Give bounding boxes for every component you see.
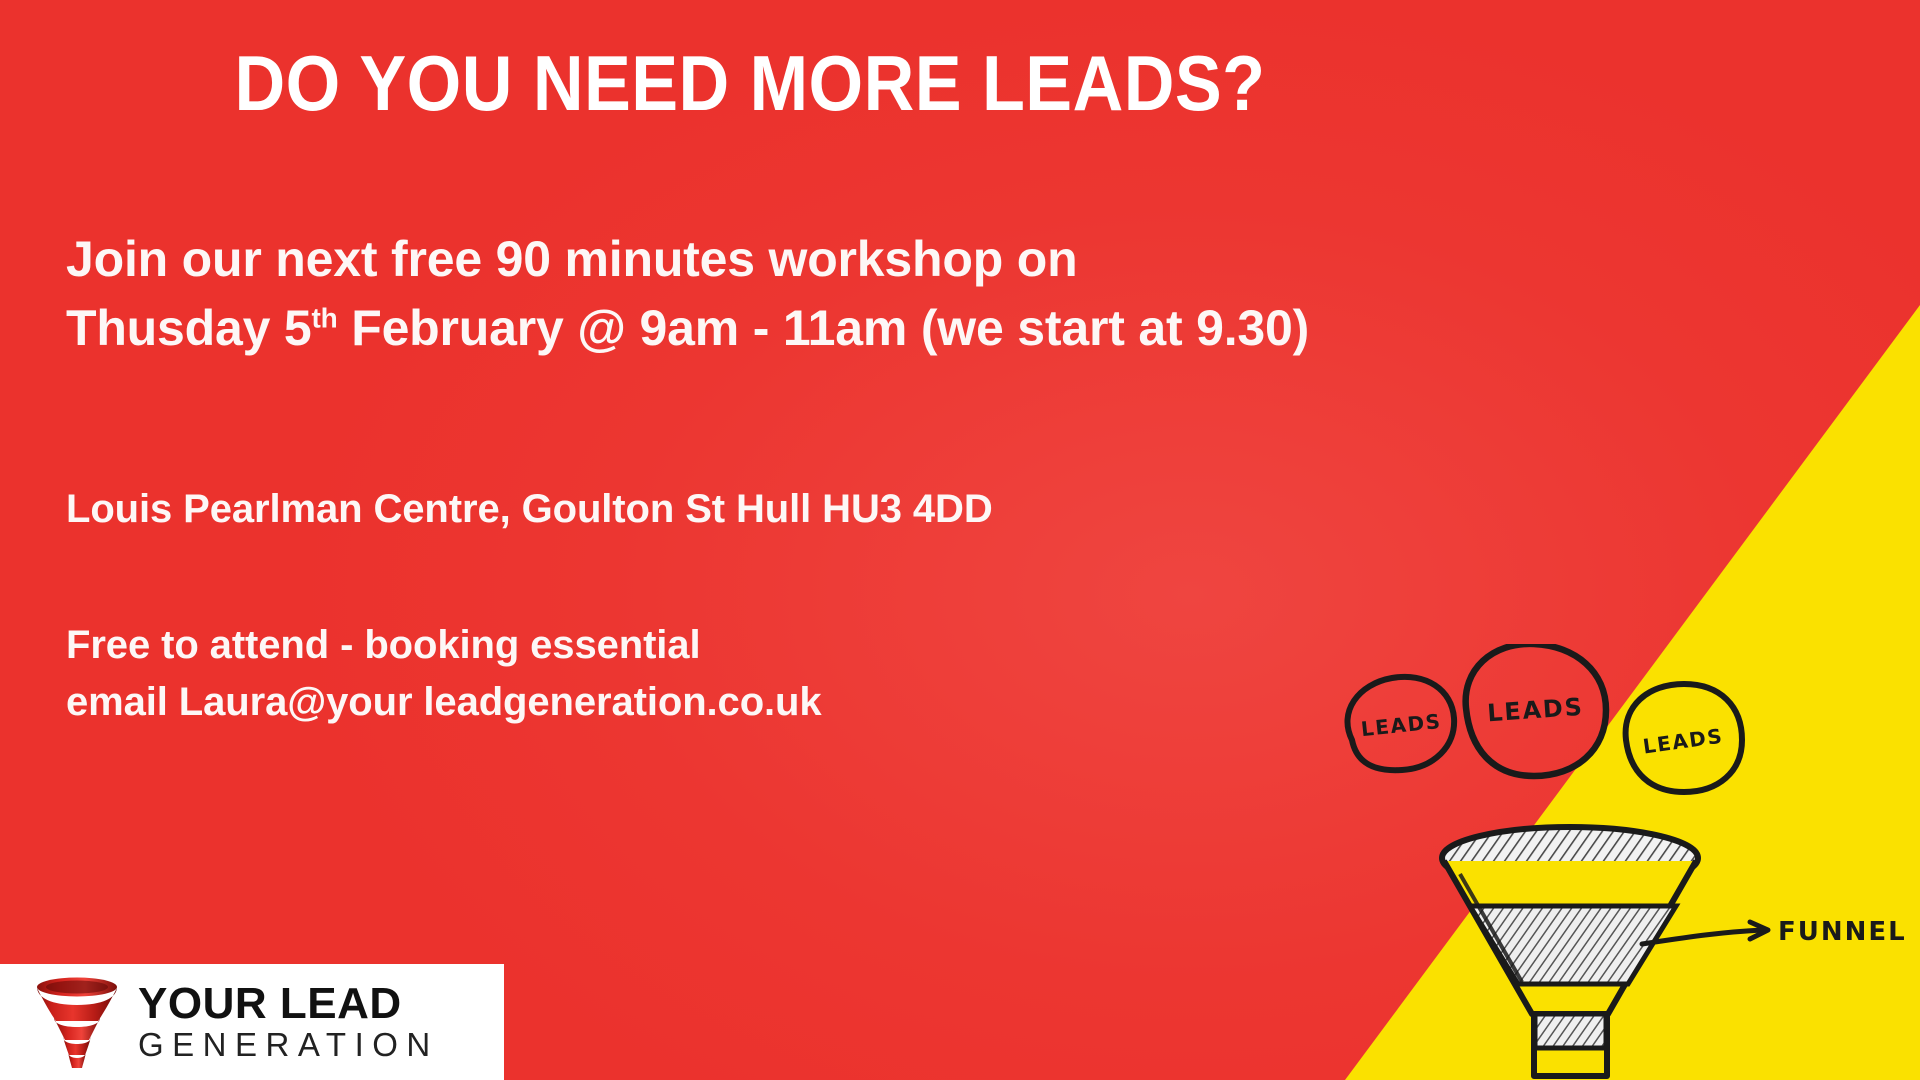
intro-line-2: Thusday 5th February @ 9am - 11am (we st…	[66, 294, 1426, 363]
leads-bubble-right-label: LEADS	[1641, 724, 1724, 759]
intro-line-2-time: February @ 9am - 11am (we start at 9.30)	[338, 300, 1310, 356]
intro-line-2-date: Thusday 5	[66, 300, 312, 356]
logo-wordmark: YOUR LEAD GENERATION	[138, 982, 439, 1063]
intro-block: Join our next free 90 minutes workshop o…	[66, 225, 1426, 363]
leads-bubble-left-label: LEADS	[1360, 709, 1443, 741]
funnel-label: FUNNEL	[1778, 917, 1907, 947]
booking-block: Free to attend - booking essential email…	[66, 617, 1426, 731]
intro-line-1: Join our next free 90 minutes workshop o…	[66, 225, 1426, 294]
funnel-icon	[34, 974, 120, 1070]
funnel-label-group: FUNNEL	[1642, 917, 1907, 947]
leads-funnel-illustration: LEADS LEADS LEADS	[1326, 644, 1920, 1080]
funnel-drawing	[1442, 827, 1698, 1076]
venue-address: Louis Pearlman Centre, Goulton St Hull H…	[66, 481, 1426, 537]
leads-bubble-right: LEADS	[1626, 684, 1742, 792]
brand-logo: YOUR LEAD GENERATION	[0, 964, 504, 1080]
page-title: DO YOU NEED MORE LEADS?	[75, 44, 1425, 122]
poster-canvas: DO YOU NEED MORE LEADS? Join our next fr…	[0, 0, 1920, 1080]
logo-line-2: GENERATION	[138, 1027, 439, 1063]
ordinal-suffix: th	[312, 302, 338, 333]
booking-line-1: Free to attend - booking essential	[66, 617, 1426, 674]
leads-bubble-center-label: LEADS	[1486, 693, 1584, 728]
body-copy: Join our next free 90 minutes workshop o…	[66, 225, 1426, 731]
leads-bubble-center: LEADS	[1466, 644, 1606, 776]
contact-email-line: email Laura@your leadgeneration.co.uk	[66, 674, 1426, 731]
leads-bubble-left: LEADS	[1347, 677, 1454, 770]
logo-line-1: YOUR LEAD	[138, 982, 439, 1027]
